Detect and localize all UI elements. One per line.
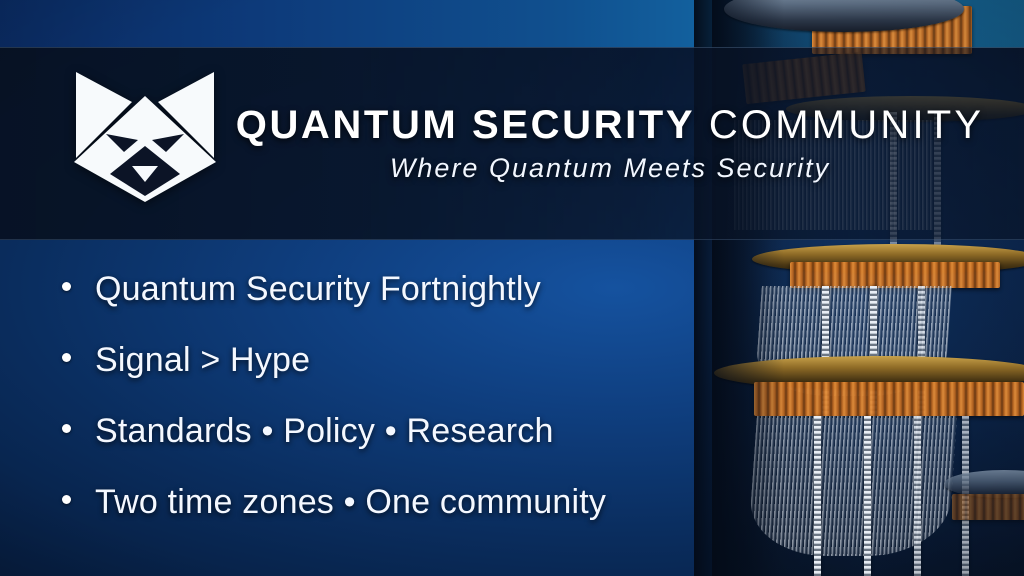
page-title: QUANTUM SECURITY COMMUNITY [236,105,985,145]
support-rod [814,416,821,576]
list-item-label: Standards • Policy • Research [95,414,554,448]
copper-connector-array [790,262,1000,288]
title-bold: QUANTUM SECURITY [236,103,695,147]
title-light: COMMUNITY [709,103,984,147]
copper-connector-array [952,494,1024,520]
slide-canvas: QUANTUM SECURITY COMMUNITY Where Quantum… [0,0,1024,576]
bullet-list: Quantum Security Fortnightly Signal > Hy… [62,272,762,556]
bullet-dot-icon [62,495,71,504]
copper-connector-array [754,382,1024,416]
list-item-label: Two time zones • One community [95,485,606,519]
bullet-dot-icon [62,424,71,433]
bullet-dot-icon [62,353,71,362]
bullet-dot-icon [62,282,71,291]
list-item-label: Quantum Security Fortnightly [95,272,541,306]
list-item-label: Signal > Hype [95,343,310,377]
tagline: Where Quantum Meets Security [390,155,830,182]
list-item: Signal > Hype [62,343,762,414]
wolf-head-logo [66,62,224,202]
header-text-block: QUANTUM SECURITY COMMUNITY Where Quantum… [250,47,970,240]
list-item: Two time zones • One community [62,485,762,556]
list-item: Quantum Security Fortnightly [62,272,762,343]
support-rod [864,416,871,576]
support-rod [914,416,921,576]
list-item: Standards • Policy • Research [62,414,762,485]
